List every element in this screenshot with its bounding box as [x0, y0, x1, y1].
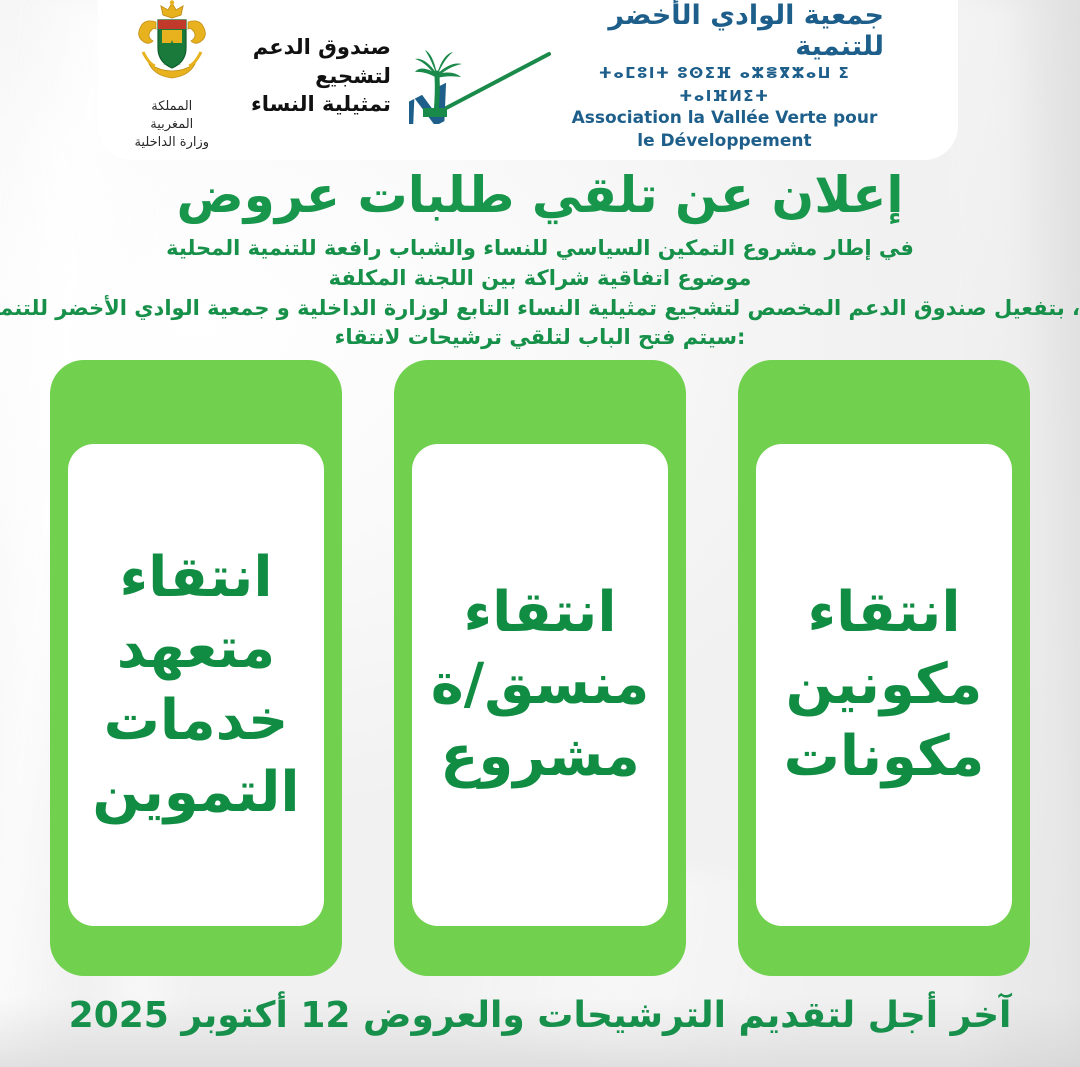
intro-line: في إطار مشروع التمكين السياسي للنساء وال… [0, 234, 1080, 264]
card-inner-panel: انتقاء منسق/ة مشروع [412, 444, 668, 926]
intro-line: :سيتم فتح الباب لتلقي ترشيحات لانتقاء [0, 323, 1080, 353]
card-trainers[interactable]: انتقاء مكونين مكونات [738, 360, 1030, 976]
association-name-french: Association la Vallée Verte pour le Déve… [565, 107, 884, 151]
intro-paragraph: في إطار مشروع التمكين السياسي للنساء وال… [0, 234, 1080, 353]
association-name-arabic: جمعية الوادي الأخضر للتنمية [565, 0, 884, 62]
card-supply-services-provider[interactable]: انتقاء متعهد خدمات التموين [50, 360, 342, 976]
card-inner-panel: انتقاء مكونين مكونات [756, 444, 1012, 926]
ministry-logo-block: صندوق الدعم لتشجيع تمثيلية النساء [128, 0, 391, 152]
card-label: انتقاء منسق/ة مشروع [431, 577, 650, 792]
page-title: إعلان عن تلقي طلبات عروض [0, 166, 1080, 224]
card-label: انتقاء متعهد خدمات التموين [92, 542, 299, 829]
card-project-coordinator[interactable]: انتقاء منسق/ة مشروع [394, 360, 686, 976]
morocco-emblem-block: المملكة المغربية وزارة الداخلية [128, 0, 216, 152]
association-name-tifinagh: ⵜⴰⵎⵓⵏⵜ ⵓⵙⵉⴼ ⴰⵣⴻⴳⵣⴰⵡ ⵉ ⵜⴰⵏⴼⵍⵉⵜ [565, 62, 884, 107]
card-label: انتقاء مكونين مكونات [784, 577, 985, 792]
emblem-caption: المملكة المغربية وزارة الداخلية [128, 98, 216, 153]
morocco-coat-of-arms-icon [129, 0, 215, 96]
deadline-text: آخر أجل لتقديم الترشيحات والعروض 12 أكتو… [0, 992, 1080, 1041]
association-text-block: جمعية الوادي الأخضر للتنمية ⵜⴰⵎⵓⵏⵜ ⵓⵙⵉⴼ … [565, 0, 884, 151]
support-fund-label: صندوق الدعم لتشجيع تمثيلية النساء [230, 33, 391, 118]
palm-tree-avv-logo-icon: AVV [409, 28, 559, 124]
association-logo-block: جمعية الوادي الأخضر للتنمية ⵜⴰⵎⵓⵏⵜ ⵓⵙⵉⴼ … [409, 0, 884, 151]
poster-root: صندوق الدعم لتشجيع تمثيلية النساء [0, 0, 1080, 1067]
card-inner-panel: انتقاء متعهد خدمات التموين [68, 444, 324, 926]
intro-line: ، بتفعيل صندوق الدعم المخصص لتشجيع تمثيل… [0, 294, 1080, 324]
intro-line: موضوع اتفاقية شراكة بين اللجنة المكلفة [0, 264, 1080, 294]
opportunity-cards: انتقاء متعهد خدمات التموين انتقاء منسق/ة… [50, 360, 1030, 976]
header-logo-bar: صندوق الدعم لتشجيع تمثيلية النساء [98, 0, 958, 160]
